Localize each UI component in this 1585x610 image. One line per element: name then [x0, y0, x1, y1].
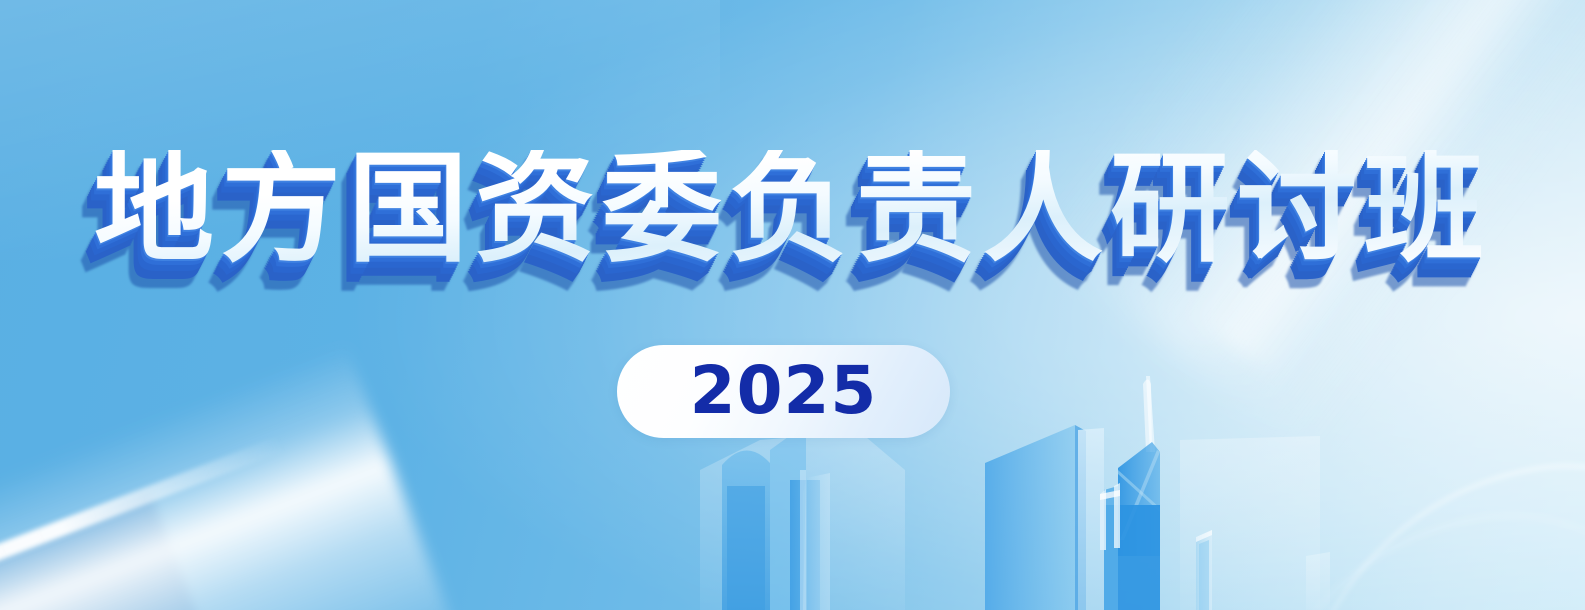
year-badge: 2025 [617, 345, 950, 438]
page-title: 地方国资委负责人研讨班 [0, 150, 1585, 270]
page-title-text: 地方国资委负责人研讨班 [94, 150, 1491, 270]
year-badge-label: 2025 [690, 358, 878, 424]
banner: 地方国资委负责人研讨班 2025 [0, 0, 1585, 610]
